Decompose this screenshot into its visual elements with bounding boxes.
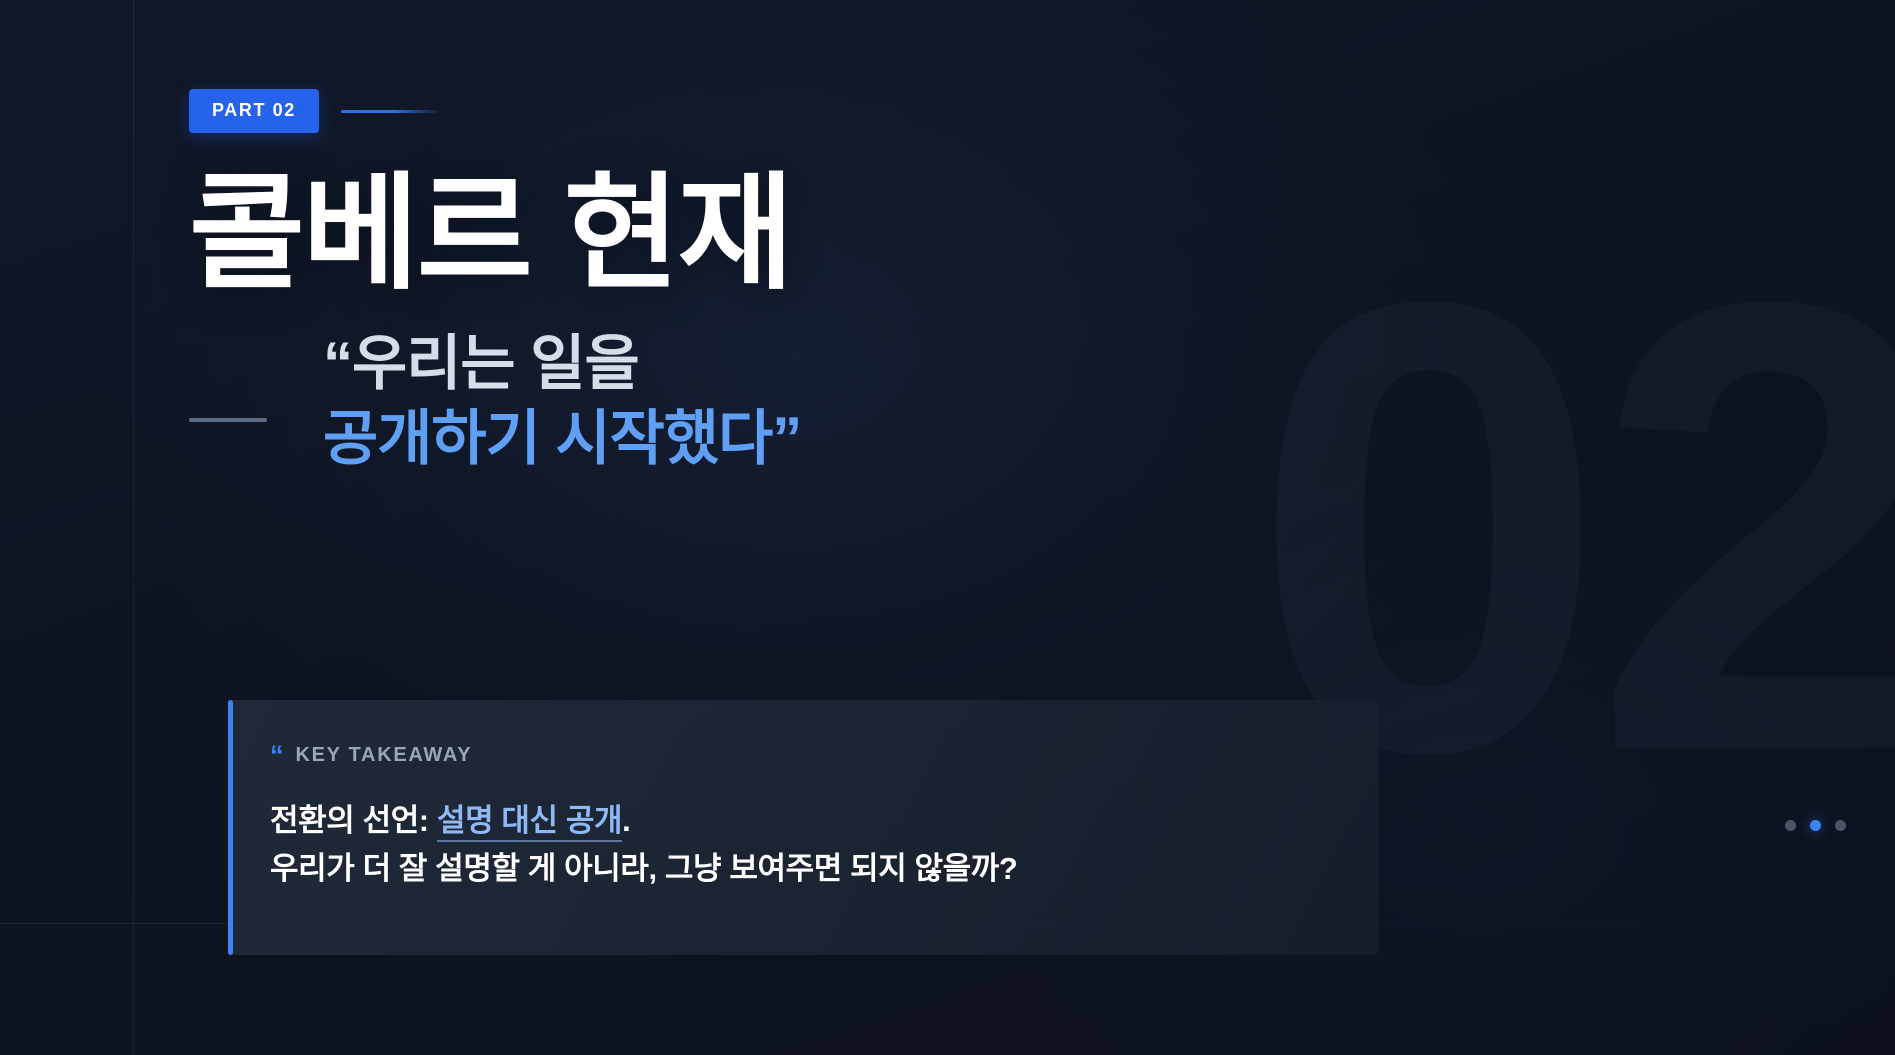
quote-line-1: “우리는 일을 — [323, 326, 801, 401]
eyebrow-rule — [341, 110, 437, 113]
slide-root: 02 PART 02 콜베르 현재 “우리는 일을 공개하기 시작했다” “ K… — [0, 0, 1895, 1055]
key-takeaway-label-row: “ KEY TAKEAWAY — [270, 742, 1380, 769]
pagination-dot-1[interactable] — [1785, 820, 1796, 831]
vertical-guide-line — [133, 0, 134, 1055]
pagination-dot-2[interactable] — [1810, 820, 1821, 831]
takeaway-line-1: 전환의 선언: 설명 대신 공개. — [270, 797, 1380, 845]
quote-block: “우리는 일을 공개하기 시작했다” — [189, 326, 801, 476]
takeaway-line-2: 우리가 더 잘 설명할 게 아니라, 그냥 보여주면 되지 않을까? — [270, 845, 1380, 893]
takeaway-line-1-highlight: 설명 대신 공개 — [437, 803, 622, 842]
takeaway-line-1-suffix: . — [622, 803, 630, 838]
pagination-dots[interactable] — [1785, 820, 1846, 831]
takeaway-line-1-prefix: 전환의 선언: — [270, 803, 437, 838]
quote-lines: “우리는 일을 공개하기 시작했다” — [323, 326, 801, 476]
quote-dash — [189, 418, 267, 422]
part-badge[interactable]: PART 02 — [189, 89, 319, 133]
key-takeaway-content: “ KEY TAKEAWAY 전환의 선언: 설명 대신 공개. 우리가 더 잘… — [270, 700, 1380, 955]
pagination-dot-3[interactable] — [1835, 820, 1846, 831]
quote-line-2: 공개하기 시작했다” — [323, 401, 801, 476]
key-takeaway-accent-bar — [228, 700, 233, 955]
key-takeaway-label: KEY TAKEAWAY — [296, 744, 473, 767]
quote-mark-icon: “ — [270, 742, 283, 769]
eyebrow-row: PART 02 — [189, 89, 437, 133]
page-title: 콜베르 현재 — [189, 168, 792, 299]
